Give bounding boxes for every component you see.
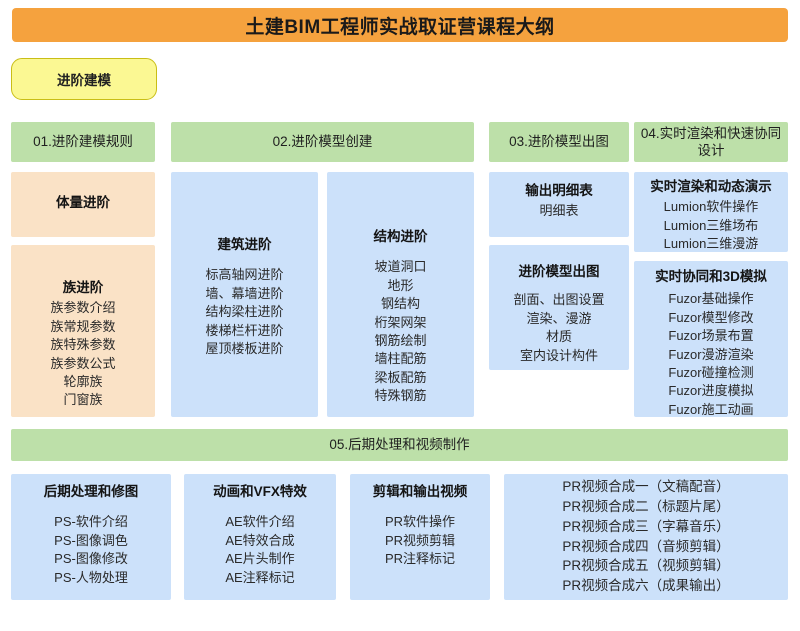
section-header-02[interactable]: 02.进阶模型创建 <box>171 122 474 162</box>
list-item: 屋顶楼板进阶 <box>205 340 283 358</box>
section-header-01[interactable]: 01.进阶建模规则 <box>11 122 155 162</box>
list-item: PR视频合成四（音频剪辑） <box>562 537 729 557</box>
card-architecture-advanced-title: 建筑进阶 <box>218 236 272 254</box>
list-item: 族参数公式 <box>50 355 115 373</box>
card-output-schedule-title: 输出明细表 <box>525 182 593 200</box>
card-architecture-advanced[interactable]: 建筑进阶 标高轴网进阶 墙、幕墙进阶 结构梁柱进阶 楼梯栏杆进阶 屋顶楼板进阶 <box>171 172 318 417</box>
page-title: 土建BIM工程师实战取证营课程大纲 <box>245 12 554 39</box>
card-output-schedule[interactable]: 输出明细表 明细表 <box>489 172 629 237</box>
course-outline-page: 土建BIM工程师实战取证营课程大纲 进阶建模 01.进阶建模规则 02.进阶模型… <box>0 0 800 631</box>
card-output-schedule-list: 明细表 <box>539 202 578 220</box>
card-advanced-drawing[interactable]: 进阶模型出图 剖面、出图设置 渲染、漫游 材质 室内设计构件 <box>489 245 629 370</box>
list-item: PS-人物处理 <box>54 569 128 587</box>
card-architecture-advanced-list: 标高轴网进阶 墙、幕墙进阶 结构梁柱进阶 楼梯栏杆进阶 屋顶楼板进阶 <box>205 266 283 358</box>
list-item: PR视频合成六（成果输出） <box>562 576 729 596</box>
card-aftereffects[interactable]: 动画和VFX特效 AE软件介绍 AE特效合成 AE片头制作 AE注释标记 <box>184 474 336 600</box>
list-item: 明细表 <box>539 202 578 220</box>
card-fuzor-title: 实时协同和3D模拟 <box>655 268 767 286</box>
list-item: AE片头制作 <box>225 550 294 568</box>
card-lumion[interactable]: 实时渲染和动态演示 Lumion软件操作 Lumion三维场布 Lumion三维… <box>634 172 788 252</box>
card-photoshop-title: 后期处理和修图 <box>44 483 139 501</box>
list-item: PS-图像修改 <box>54 550 128 568</box>
card-premiere-title: 剪辑和输出视频 <box>373 483 468 501</box>
list-item: PR视频合成一（文稿配音） <box>562 477 729 497</box>
section-header-05[interactable]: 05.后期处理和视频制作 <box>11 429 788 461</box>
card-premiere-list: PR软件操作 PR视频剪辑 PR注释标记 <box>385 513 455 568</box>
card-premiere[interactable]: 剪辑和输出视频 PR软件操作 PR视频剪辑 PR注释标记 <box>350 474 490 600</box>
list-item: 特殊钢筋 <box>374 387 426 405</box>
list-item: 墙、幕墙进阶 <box>205 285 283 303</box>
list-item: 渲染、漫游 <box>513 310 604 328</box>
list-item: 剖面、出图设置 <box>513 291 604 309</box>
list-item: 族常规参数 <box>50 318 115 336</box>
list-item: PR视频剪辑 <box>385 532 455 550</box>
list-item: PR视频合成五（视频剪辑） <box>562 556 729 576</box>
section-header-05-label: 05.后期处理和视频制作 <box>329 436 469 453</box>
list-item: PR视频合成二（标题片尾） <box>562 497 729 517</box>
section-header-04[interactable]: 04.实时渲染和快速协同设计 <box>634 122 788 162</box>
list-item: 钢结构 <box>374 295 426 313</box>
card-aftereffects-list: AE软件介绍 AE特效合成 AE片头制作 AE注释标记 <box>225 513 294 587</box>
card-fuzor[interactable]: 实时协同和3D模拟 Fuzor基础操作 Fuzor模型修改 Fuzor场景布置 … <box>634 261 788 417</box>
list-item: Fuzor进度模拟 <box>668 382 753 400</box>
list-item: 轮廓族 <box>50 373 115 391</box>
list-item: 标高轴网进阶 <box>205 266 283 284</box>
list-item: Lumion三维漫游 <box>664 235 759 253</box>
list-item: Fuzor施工动画 <box>668 401 753 419</box>
page-title-banner: 土建BIM工程师实战取证营课程大纲 <box>12 8 788 42</box>
card-advanced-drawing-list: 剖面、出图设置 渲染、漫游 材质 室内设计构件 <box>513 291 604 365</box>
list-item: 楼梯栏杆进阶 <box>205 322 283 340</box>
card-family-advanced-list: 族参数介绍 族常规参数 族特殊参数 族参数公式 轮廓族 门窗族 <box>50 299 115 410</box>
list-item: 钢筋绘制 <box>374 332 426 350</box>
list-item: 梁板配筋 <box>374 369 426 387</box>
list-item: 结构梁柱进阶 <box>205 303 283 321</box>
list-item: Fuzor碰撞检测 <box>668 364 753 382</box>
card-lumion-list: Lumion软件操作 Lumion三维场布 Lumion三维漫游 <box>664 198 759 253</box>
card-fuzor-list: Fuzor基础操作 Fuzor模型修改 Fuzor场景布置 Fuzor漫游渲染 … <box>668 290 753 419</box>
stage-chip-label: 进阶建模 <box>57 69 111 89</box>
list-item: 材质 <box>513 328 604 346</box>
list-item: Fuzor场景布置 <box>668 327 753 345</box>
card-pr-composition-list: PR视频合成一（文稿配音） PR视频合成二（标题片尾） PR视频合成三（字幕音乐… <box>562 477 729 595</box>
stage-chip-advanced-modeling[interactable]: 进阶建模 <box>11 58 157 100</box>
list-item: 地形 <box>374 277 426 295</box>
list-item: PS-图像调色 <box>54 532 128 550</box>
list-item: 室内设计构件 <box>513 347 604 365</box>
list-item: Fuzor漫游渲染 <box>668 346 753 364</box>
list-item: Fuzor基础操作 <box>668 290 753 308</box>
list-item: Fuzor模型修改 <box>668 309 753 327</box>
card-family-advanced-title: 族进阶 <box>63 279 104 297</box>
section-header-01-label: 01.进阶建模规则 <box>33 133 133 150</box>
list-item: Lumion软件操作 <box>664 198 759 216</box>
section-header-04-label: 04.实时渲染和快速协同设计 <box>640 125 782 160</box>
list-item: Lumion三维场布 <box>664 217 759 235</box>
list-item: 坡道洞口 <box>374 258 426 276</box>
card-pr-composition[interactable]: PR视频合成一（文稿配音） PR视频合成二（标题片尾） PR视频合成三（字幕音乐… <box>504 474 788 600</box>
card-structure-advanced[interactable]: 结构进阶 坡道洞口 地形 钢结构 桁架网架 钢筋绘制 墙柱配筋 梁板配筋 特殊钢… <box>327 172 474 417</box>
card-volume-advanced-title: 体量进阶 <box>56 194 110 212</box>
card-family-advanced[interactable]: 族进阶 族参数介绍 族常规参数 族特殊参数 族参数公式 轮廓族 门窗族 <box>11 245 155 417</box>
section-header-02-label: 02.进阶模型创建 <box>273 133 373 150</box>
section-header-03-label: 03.进阶模型出图 <box>509 133 609 150</box>
list-item: PR软件操作 <box>385 513 455 531</box>
list-item: 族参数介绍 <box>50 299 115 317</box>
card-photoshop[interactable]: 后期处理和修图 PS-软件介绍 PS-图像调色 PS-图像修改 PS-人物处理 <box>11 474 171 600</box>
list-item: AE特效合成 <box>225 532 294 550</box>
list-item: PS-软件介绍 <box>54 513 128 531</box>
card-photoshop-list: PS-软件介绍 PS-图像调色 PS-图像修改 PS-人物处理 <box>54 513 128 587</box>
card-advanced-drawing-title: 进阶模型出图 <box>519 263 600 281</box>
card-structure-advanced-list: 坡道洞口 地形 钢结构 桁架网架 钢筋绘制 墙柱配筋 梁板配筋 特殊钢筋 <box>374 258 426 406</box>
list-item: 门窗族 <box>50 391 115 409</box>
list-item: AE注释标记 <box>225 569 294 587</box>
card-lumion-title: 实时渲染和动态演示 <box>650 178 772 196</box>
list-item: PR视频合成三（字幕音乐） <box>562 517 729 537</box>
list-item: AE软件介绍 <box>225 513 294 531</box>
card-volume-advanced[interactable]: 体量进阶 <box>11 172 155 237</box>
card-aftereffects-title: 动画和VFX特效 <box>213 483 307 501</box>
list-item: 墙柱配筋 <box>374 350 426 368</box>
list-item: PR注释标记 <box>385 550 455 568</box>
list-item: 族特殊参数 <box>50 336 115 354</box>
list-item: 桁架网架 <box>374 314 426 332</box>
section-header-03[interactable]: 03.进阶模型出图 <box>489 122 629 162</box>
card-structure-advanced-title: 结构进阶 <box>374 228 428 246</box>
